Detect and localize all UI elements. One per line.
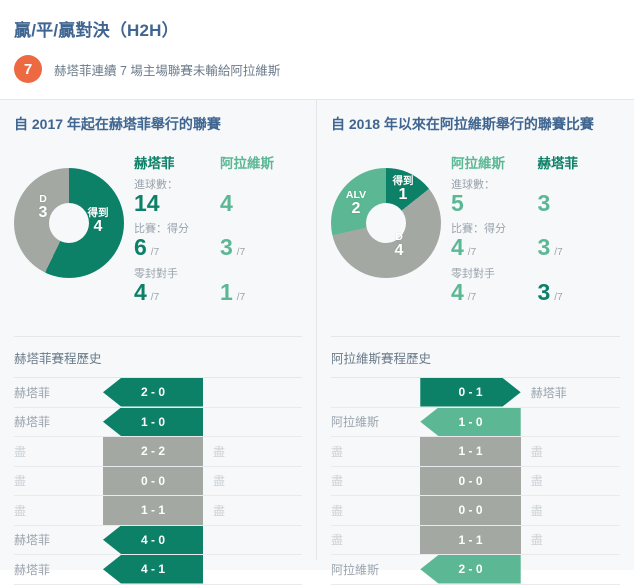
history-row-right-team: 盡 (203, 496, 302, 525)
history-row-score-cell: 0 - 0 (420, 496, 520, 525)
history-row-left-team: 赫塔菲 (14, 378, 103, 407)
score-badge: 0 - 1 (420, 378, 520, 407)
stats-table: 阿拉維斯 赫塔菲 進球數： 5 3 (441, 146, 624, 305)
score-badge: 2 - 0 (420, 555, 520, 584)
history-row-right-team: 盡 (521, 437, 620, 466)
match-history-away: 阿拉維斯賽程歷史 0 - 1赫塔菲阿拉維斯1 - 0盡1 - 1盡盡0 - 0盡… (331, 336, 620, 585)
history-row-score-cell: 4 - 0 (103, 526, 203, 555)
stats-team-b: 赫塔菲 (538, 152, 625, 172)
stats-table: 赫塔菲 阿拉維斯 進球數： 14 4 (124, 146, 306, 305)
stat-value: 4 (451, 234, 464, 260)
stat-value: 14 (134, 190, 160, 216)
score-badge: 0 - 0 (103, 467, 203, 496)
history-row-left-team: 盡 (14, 467, 103, 496)
history-row-right-team (203, 408, 302, 437)
history-row-left-team: 阿拉維斯 (331, 555, 420, 584)
stats-header-row: 赫塔菲 阿拉維斯 (134, 152, 306, 172)
stat-denominator: /7 (237, 292, 245, 303)
stat-denominator: /7 (151, 292, 159, 303)
panel-title: 自 2017 年起在赫塔菲舉行的聯賽 (0, 100, 316, 146)
history-row-left-team: 盡 (331, 467, 420, 496)
history-row-right-team: 盡 (521, 467, 620, 496)
history-title: 阿拉維斯賽程歷史 (331, 337, 620, 378)
score-badge: 1 - 1 (420, 437, 520, 466)
history-row-right-team: 盡 (203, 467, 302, 496)
donut-hole (366, 203, 406, 243)
stat-denominator: /7 (151, 247, 159, 258)
stat-denominator: /7 (237, 247, 245, 258)
history-row[interactable]: 盡1 - 1盡 (331, 437, 620, 467)
stat-cell-b: 1 /7 (220, 279, 306, 305)
history-title: 赫塔菲賽程歷史 (14, 337, 302, 378)
stats-header-row: 阿拉維斯 赫塔菲 (451, 152, 624, 172)
streak-count-badge: 7 (14, 55, 42, 83)
stat-value: 3 (538, 279, 551, 305)
score-badge: 2 - 2 (103, 437, 203, 466)
stat-cell-b: 3 /7 (538, 234, 625, 260)
history-row-score-cell: 2 - 0 (420, 555, 520, 584)
donut-chart-away: 得到 1 D 4 ALV 2 (331, 168, 441, 278)
score-badge: 0 - 0 (420, 467, 520, 496)
history-row-left-team: 盡 (331, 526, 420, 555)
stat-cell-b: 3 (538, 190, 625, 216)
history-row[interactable]: 盡1 - 1盡 (331, 526, 620, 556)
stat-value: 5 (451, 190, 464, 216)
history-row[interactable]: 盡0 - 0盡 (331, 467, 620, 497)
history-rows: 0 - 1赫塔菲阿拉維斯1 - 0盡1 - 1盡盡0 - 0盡盡0 - 0盡盡1… (331, 378, 620, 585)
history-row[interactable]: 0 - 1赫塔菲 (331, 378, 620, 408)
history-row-right-team (203, 378, 302, 407)
history-row-right-team (521, 408, 620, 437)
stats-team-b: 阿拉維斯 (220, 152, 306, 172)
stat-goals: 進球數： 5 3 (451, 176, 624, 216)
panel-title: 自 2018 年以來在阿拉維斯舉行的聯賽比賽 (317, 100, 634, 146)
stat-cell-a: 5 (451, 190, 538, 216)
h2h-widget: 贏/平/贏對決（H2H） 7 赫塔菲連續 7 場主場聯賽未輸給阿拉維斯 自 20… (0, 0, 634, 570)
stat-matches-points: 比賽：得分 4 /7 3 /7 (451, 220, 624, 260)
panel-home-venue: 自 2017 年起在赫塔菲舉行的聯賽 得到 4 D 3 (0, 100, 317, 560)
history-row[interactable]: 盡1 - 1盡 (14, 496, 302, 526)
history-row-score-cell: 4 - 1 (103, 555, 203, 584)
history-row-left-team: 盡 (331, 437, 420, 466)
history-row[interactable]: 盡0 - 0盡 (14, 467, 302, 497)
stat-value: 6 (134, 234, 147, 260)
history-row-score-cell: 2 - 2 (103, 437, 203, 466)
stat-matches-points: 比賽：得分 6 /7 3 /7 (134, 220, 306, 260)
history-row-left-team: 盡 (14, 437, 103, 466)
score-badge: 1 - 1 (420, 526, 520, 555)
stat-clean-sheets: 零封對手 4 /7 3 /7 (451, 265, 624, 305)
history-row-score-cell: 0 - 0 (420, 467, 520, 496)
stat-cell-a: 14 (134, 190, 220, 216)
donut-chart-home: 得到 4 D 3 (14, 168, 124, 278)
score-badge: 1 - 0 (420, 408, 520, 437)
history-rows: 赫塔菲2 - 0赫塔菲1 - 0盡2 - 2盡盡0 - 0盡盡1 - 1盡赫塔菲… (14, 378, 302, 585)
history-row-right-team (521, 555, 620, 584)
history-row-right-team: 赫塔菲 (521, 378, 620, 407)
stat-cell-a: 4 /7 (451, 234, 538, 260)
stat-cell-b: 3 /7 (538, 279, 625, 305)
donut-hole (49, 203, 89, 243)
history-row-score-cell: 0 - 0 (103, 467, 203, 496)
history-row[interactable]: 赫塔菲1 - 0 (14, 408, 302, 438)
history-row-score-cell: 1 - 1 (103, 496, 203, 525)
stat-cell-a: 6 /7 (134, 234, 220, 260)
history-row-score-cell: 0 - 1 (420, 378, 520, 407)
stat-denominator: /7 (554, 292, 562, 303)
stat-goals: 進球數： 14 4 (134, 176, 306, 216)
stat-clean-sheets: 零封對手 4 /7 1 /7 (134, 265, 306, 305)
history-row-right-team: 盡 (521, 496, 620, 525)
streak-description: 赫塔菲連續 7 場主場聯賽未輸給阿拉維斯 (54, 60, 280, 79)
history-row-left-team: 阿拉維斯 (331, 408, 420, 437)
history-row-right-team: 盡 (521, 526, 620, 555)
score-badge: 2 - 0 (103, 378, 203, 407)
history-row-score-cell: 1 - 0 (420, 408, 520, 437)
stat-denominator: /7 (468, 247, 476, 258)
stat-value: 3 (538, 234, 551, 260)
streak-row: 7 赫塔菲連續 7 場主場聯賽未輸給阿拉維斯 (14, 55, 620, 99)
stat-value: 1 (220, 279, 233, 305)
page-title: 贏/平/贏對決（H2H） (14, 16, 620, 41)
stat-denominator: /7 (468, 292, 476, 303)
chart-area: 得到 4 D 3 赫塔菲 阿拉維斯 進球數： (0, 146, 316, 336)
history-row[interactable]: 赫塔菲4 - 0 (14, 526, 302, 556)
history-row-left-team: 赫塔菲 (14, 526, 103, 555)
stat-denominator: /7 (554, 247, 562, 258)
score-badge: 4 - 0 (103, 526, 203, 555)
history-row-right-team: 盡 (203, 437, 302, 466)
history-row[interactable]: 赫塔菲2 - 0 (14, 378, 302, 408)
stat-value: 4 (134, 279, 147, 305)
history-row-left-team (331, 378, 420, 407)
history-row-score-cell: 2 - 0 (103, 378, 203, 407)
stats-team-a: 赫塔菲 (134, 152, 220, 172)
match-history-home: 赫塔菲賽程歷史 赫塔菲2 - 0赫塔菲1 - 0盡2 - 2盡盡0 - 0盡盡1… (14, 336, 302, 585)
score-badge: 0 - 0 (420, 496, 520, 525)
stat-cell-b: 4 (220, 190, 306, 216)
history-row-left-team: 赫塔菲 (14, 555, 103, 584)
history-row-left-team: 赫塔菲 (14, 408, 103, 437)
stat-cell-a: 4 /7 (134, 279, 220, 305)
history-row-score-cell: 1 - 0 (103, 408, 203, 437)
history-row-left-team: 盡 (14, 496, 103, 525)
history-row[interactable]: 阿拉維斯1 - 0 (331, 408, 620, 438)
stats-team-a: 阿拉維斯 (451, 152, 538, 172)
history-row-right-team (203, 526, 302, 555)
history-row-score-cell: 1 - 1 (420, 526, 520, 555)
score-badge: 1 - 1 (103, 496, 203, 525)
history-row[interactable]: 盡0 - 0盡 (331, 496, 620, 526)
header: 贏/平/贏對決（H2H） 7 赫塔菲連續 7 場主場聯賽未輸給阿拉維斯 (0, 0, 634, 99)
panel-away-venue: 自 2018 年以來在阿拉維斯舉行的聯賽比賽 得到 1 D 4 ALV (317, 100, 634, 560)
stat-value: 3 (538, 190, 551, 216)
score-badge: 1 - 0 (103, 408, 203, 437)
panels-container: 自 2017 年起在赫塔菲舉行的聯賽 得到 4 D 3 (0, 99, 634, 560)
history-row-left-team: 盡 (331, 496, 420, 525)
stat-cell-b: 3 /7 (220, 234, 306, 260)
stat-cell-a: 4 /7 (451, 279, 538, 305)
stat-value: 4 (220, 190, 233, 216)
history-row[interactable]: 盡2 - 2盡 (14, 437, 302, 467)
chart-area: 得到 1 D 4 ALV 2 阿拉維斯 赫塔菲 (317, 146, 634, 336)
history-row-score-cell: 1 - 1 (420, 437, 520, 466)
stat-value: 4 (451, 279, 464, 305)
history-row-right-team (203, 555, 302, 584)
score-badge: 4 - 1 (103, 555, 203, 584)
stat-value: 3 (220, 234, 233, 260)
